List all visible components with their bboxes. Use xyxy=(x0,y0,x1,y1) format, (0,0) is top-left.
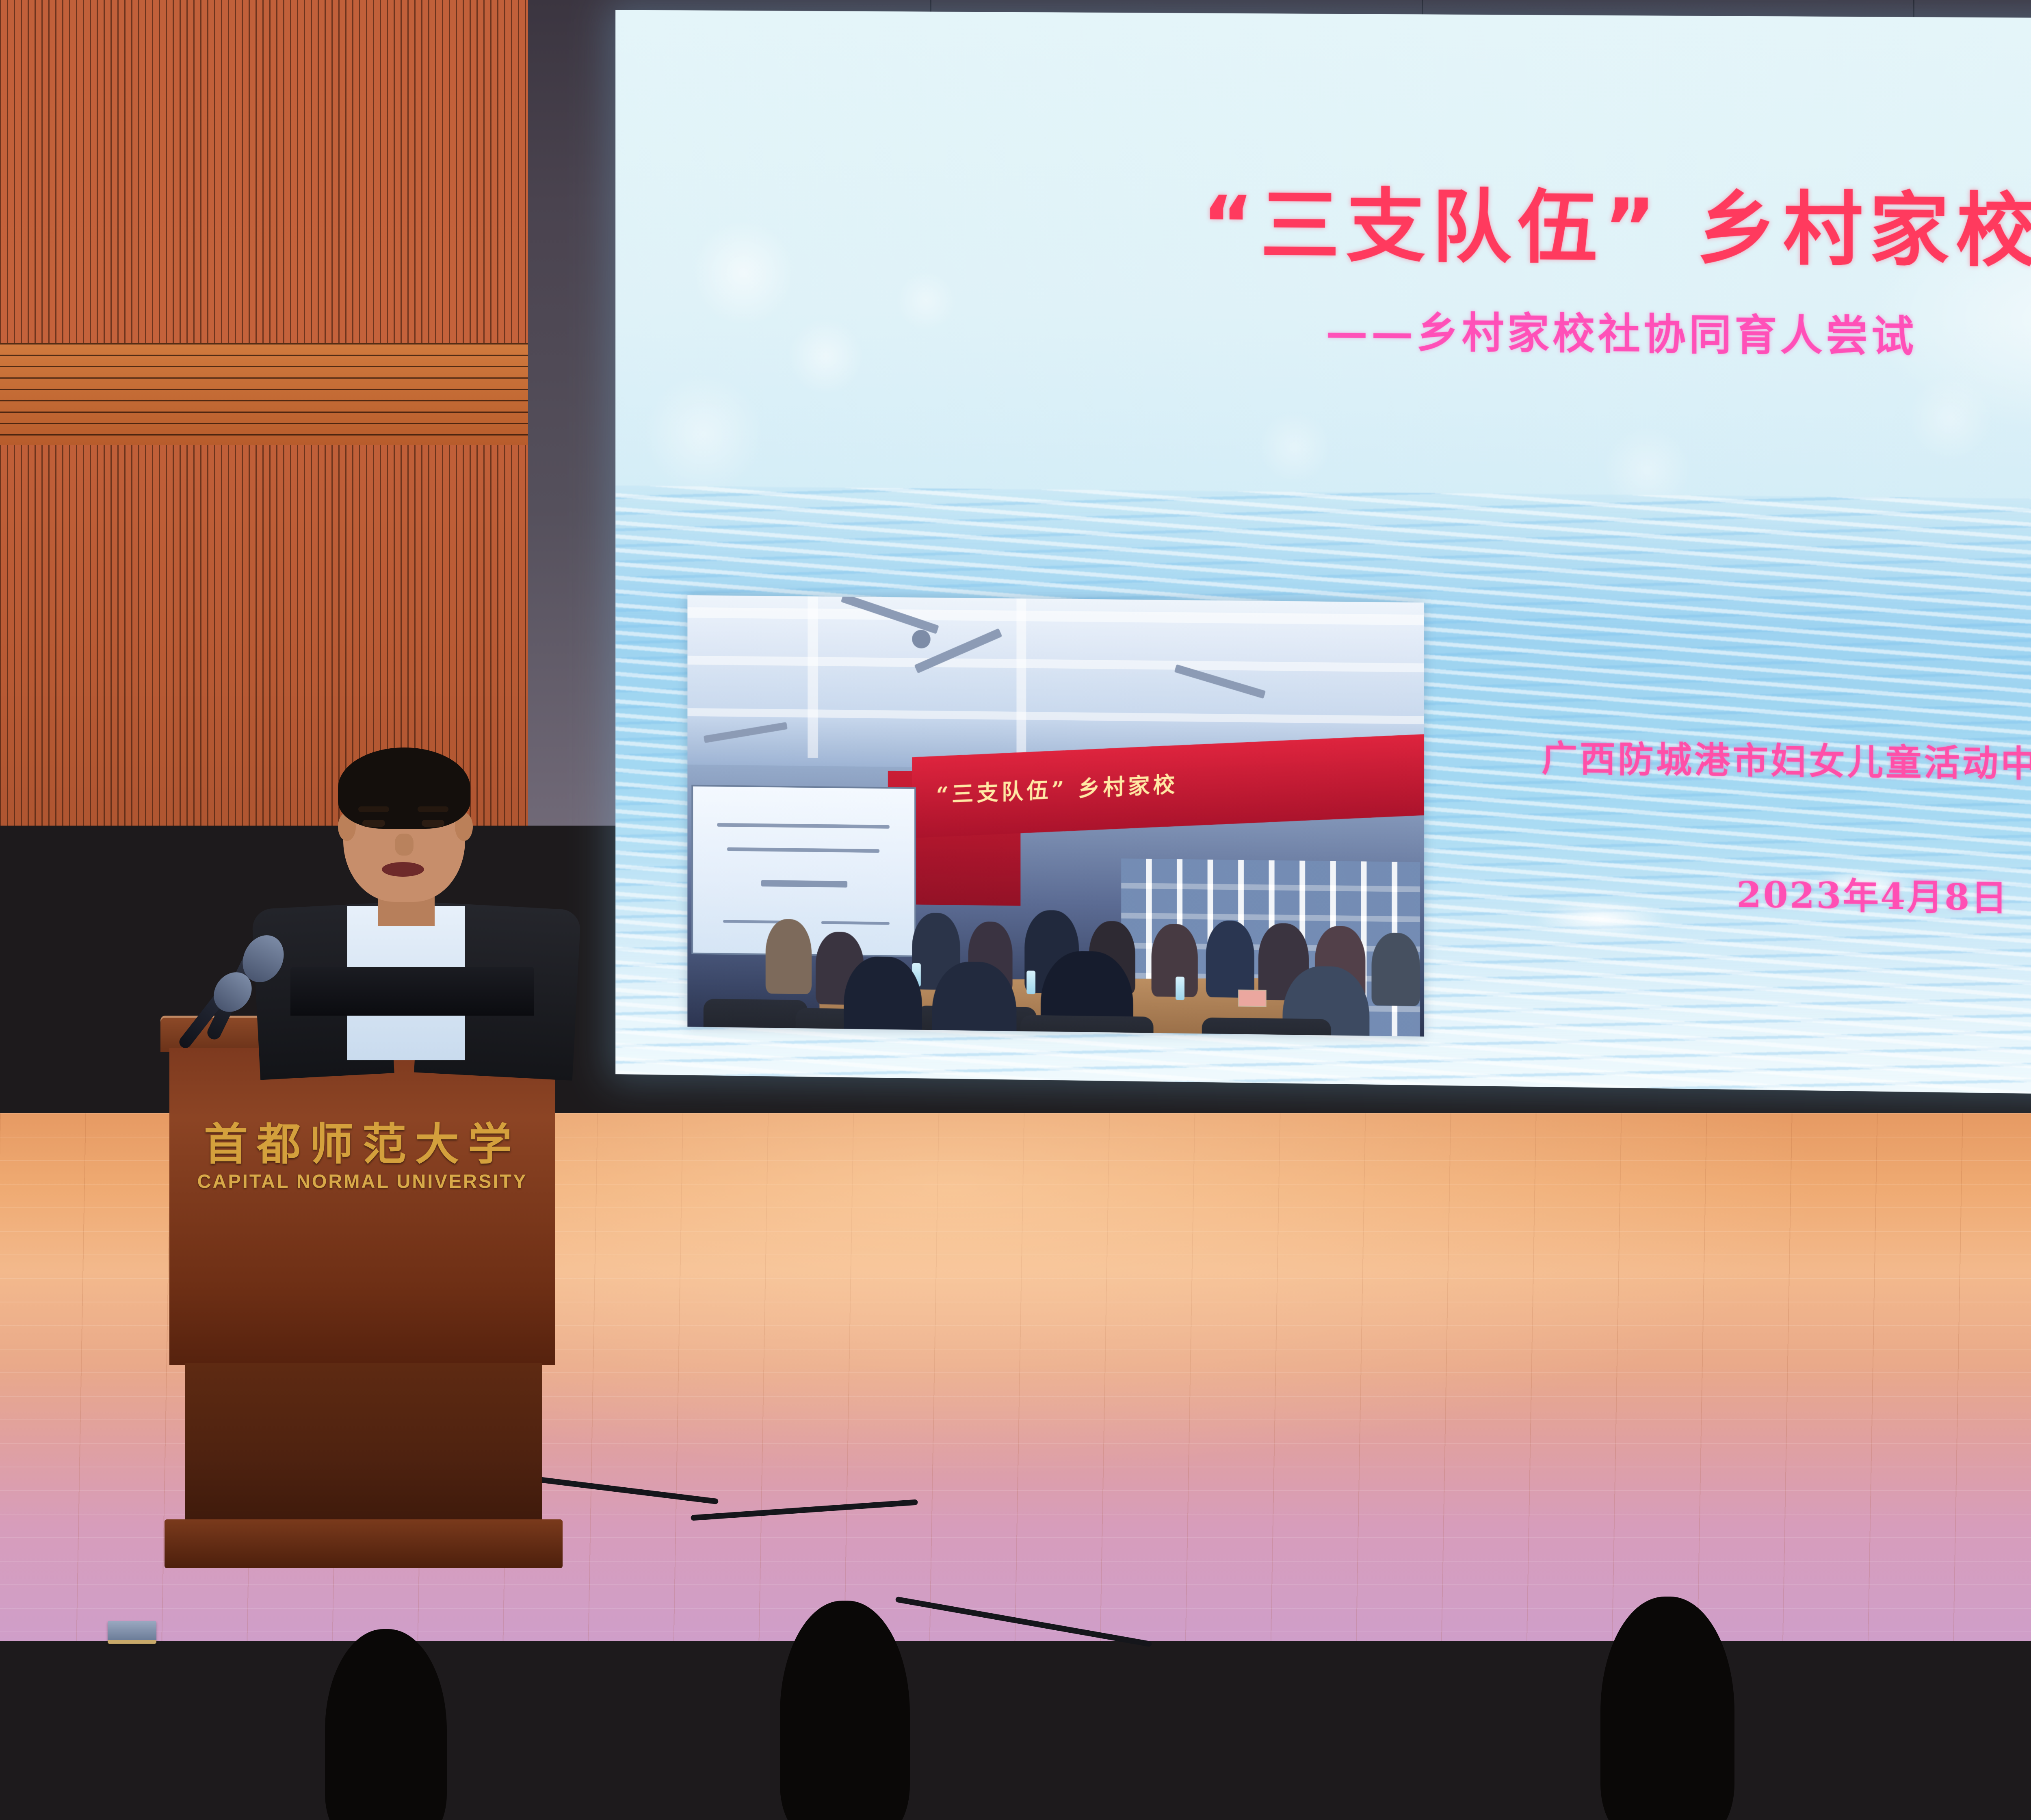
photo-attendee xyxy=(1152,924,1198,997)
screen-text-line xyxy=(761,880,847,887)
podium-foot xyxy=(165,1519,563,1568)
audience-head xyxy=(325,1629,447,1820)
bokeh-circle xyxy=(643,373,764,495)
photo-banner-text: “三支队伍” 乡村家校 xyxy=(936,766,1178,809)
photo-ceiling-beam xyxy=(808,596,818,758)
eye-right xyxy=(422,820,444,827)
eyebrow-left xyxy=(358,806,389,812)
floor-socket xyxy=(522,1668,571,1690)
audience-head xyxy=(780,1601,910,1820)
auditorium-scene: “三支队伍” 乡村家校 ——乡村家校社协同育人尝试 广西防城港市妇女儿童活动中心… xyxy=(0,0,2031,1820)
screen-text-line xyxy=(727,847,879,853)
audience-head xyxy=(1231,1674,1353,1820)
mouth xyxy=(382,862,424,877)
ceiling-fan-hub xyxy=(912,630,930,648)
photo-water-bottle xyxy=(1176,977,1184,1000)
seat-shadow xyxy=(1808,1796,1978,1820)
photo-name-card xyxy=(1238,990,1267,1007)
audience-head xyxy=(1600,1597,1734,1820)
photo-attendee xyxy=(766,919,812,994)
photo-ceiling-beam xyxy=(1016,598,1026,760)
bokeh-circle xyxy=(1258,410,1331,484)
floor-cable xyxy=(1137,1656,1308,1677)
slide-title: “三支队伍” 乡村家校 xyxy=(615,157,2031,286)
screen-text-line xyxy=(717,823,889,829)
photo-attendee xyxy=(1206,920,1254,998)
photo-water-bottle xyxy=(1026,971,1035,994)
slide-date: 2023年4月8日 xyxy=(1737,866,2031,925)
projection-screen: “三支队伍” 乡村家校 ——乡村家校社协同育人尝试 广西防城港市妇女儿童活动中心… xyxy=(615,10,2031,1102)
screen-text-line xyxy=(821,921,890,925)
seat-shadow xyxy=(991,1800,1162,1820)
floor-socket xyxy=(191,1651,240,1674)
eye-left xyxy=(362,820,385,827)
podium-front-panel: 首都师范大学 CAPITAL NORMAL UNIVERSITY xyxy=(169,1048,555,1365)
photo-chair xyxy=(1202,1017,1331,1036)
stage-light-glow xyxy=(366,1113,1828,1479)
nose xyxy=(395,834,414,856)
podium-laptop xyxy=(290,967,534,1016)
podium: 首都师范大学 CAPITAL NORMAL UNIVERSITY xyxy=(160,1016,567,1617)
speaker-person xyxy=(244,731,630,1077)
hair xyxy=(338,747,470,829)
podium-base xyxy=(185,1363,542,1538)
seat-shadow xyxy=(544,1800,715,1820)
bokeh-circle xyxy=(1908,375,1993,461)
left-wall-wood-band xyxy=(0,343,528,445)
seat-shadow xyxy=(110,1796,280,1820)
photo-attendee xyxy=(1371,932,1420,1006)
podium-english-name: CAPITAL NORMAL UNIVERSITY xyxy=(169,1170,555,1192)
photo-attendee-back xyxy=(844,956,922,1037)
slide-embedded-photo: “三支队伍” 乡村家校 xyxy=(687,595,1424,1037)
floor-socket xyxy=(108,1621,156,1644)
eyebrow-right xyxy=(418,806,448,812)
podium-chinese-name: 首都师范大学 xyxy=(169,1109,555,1172)
